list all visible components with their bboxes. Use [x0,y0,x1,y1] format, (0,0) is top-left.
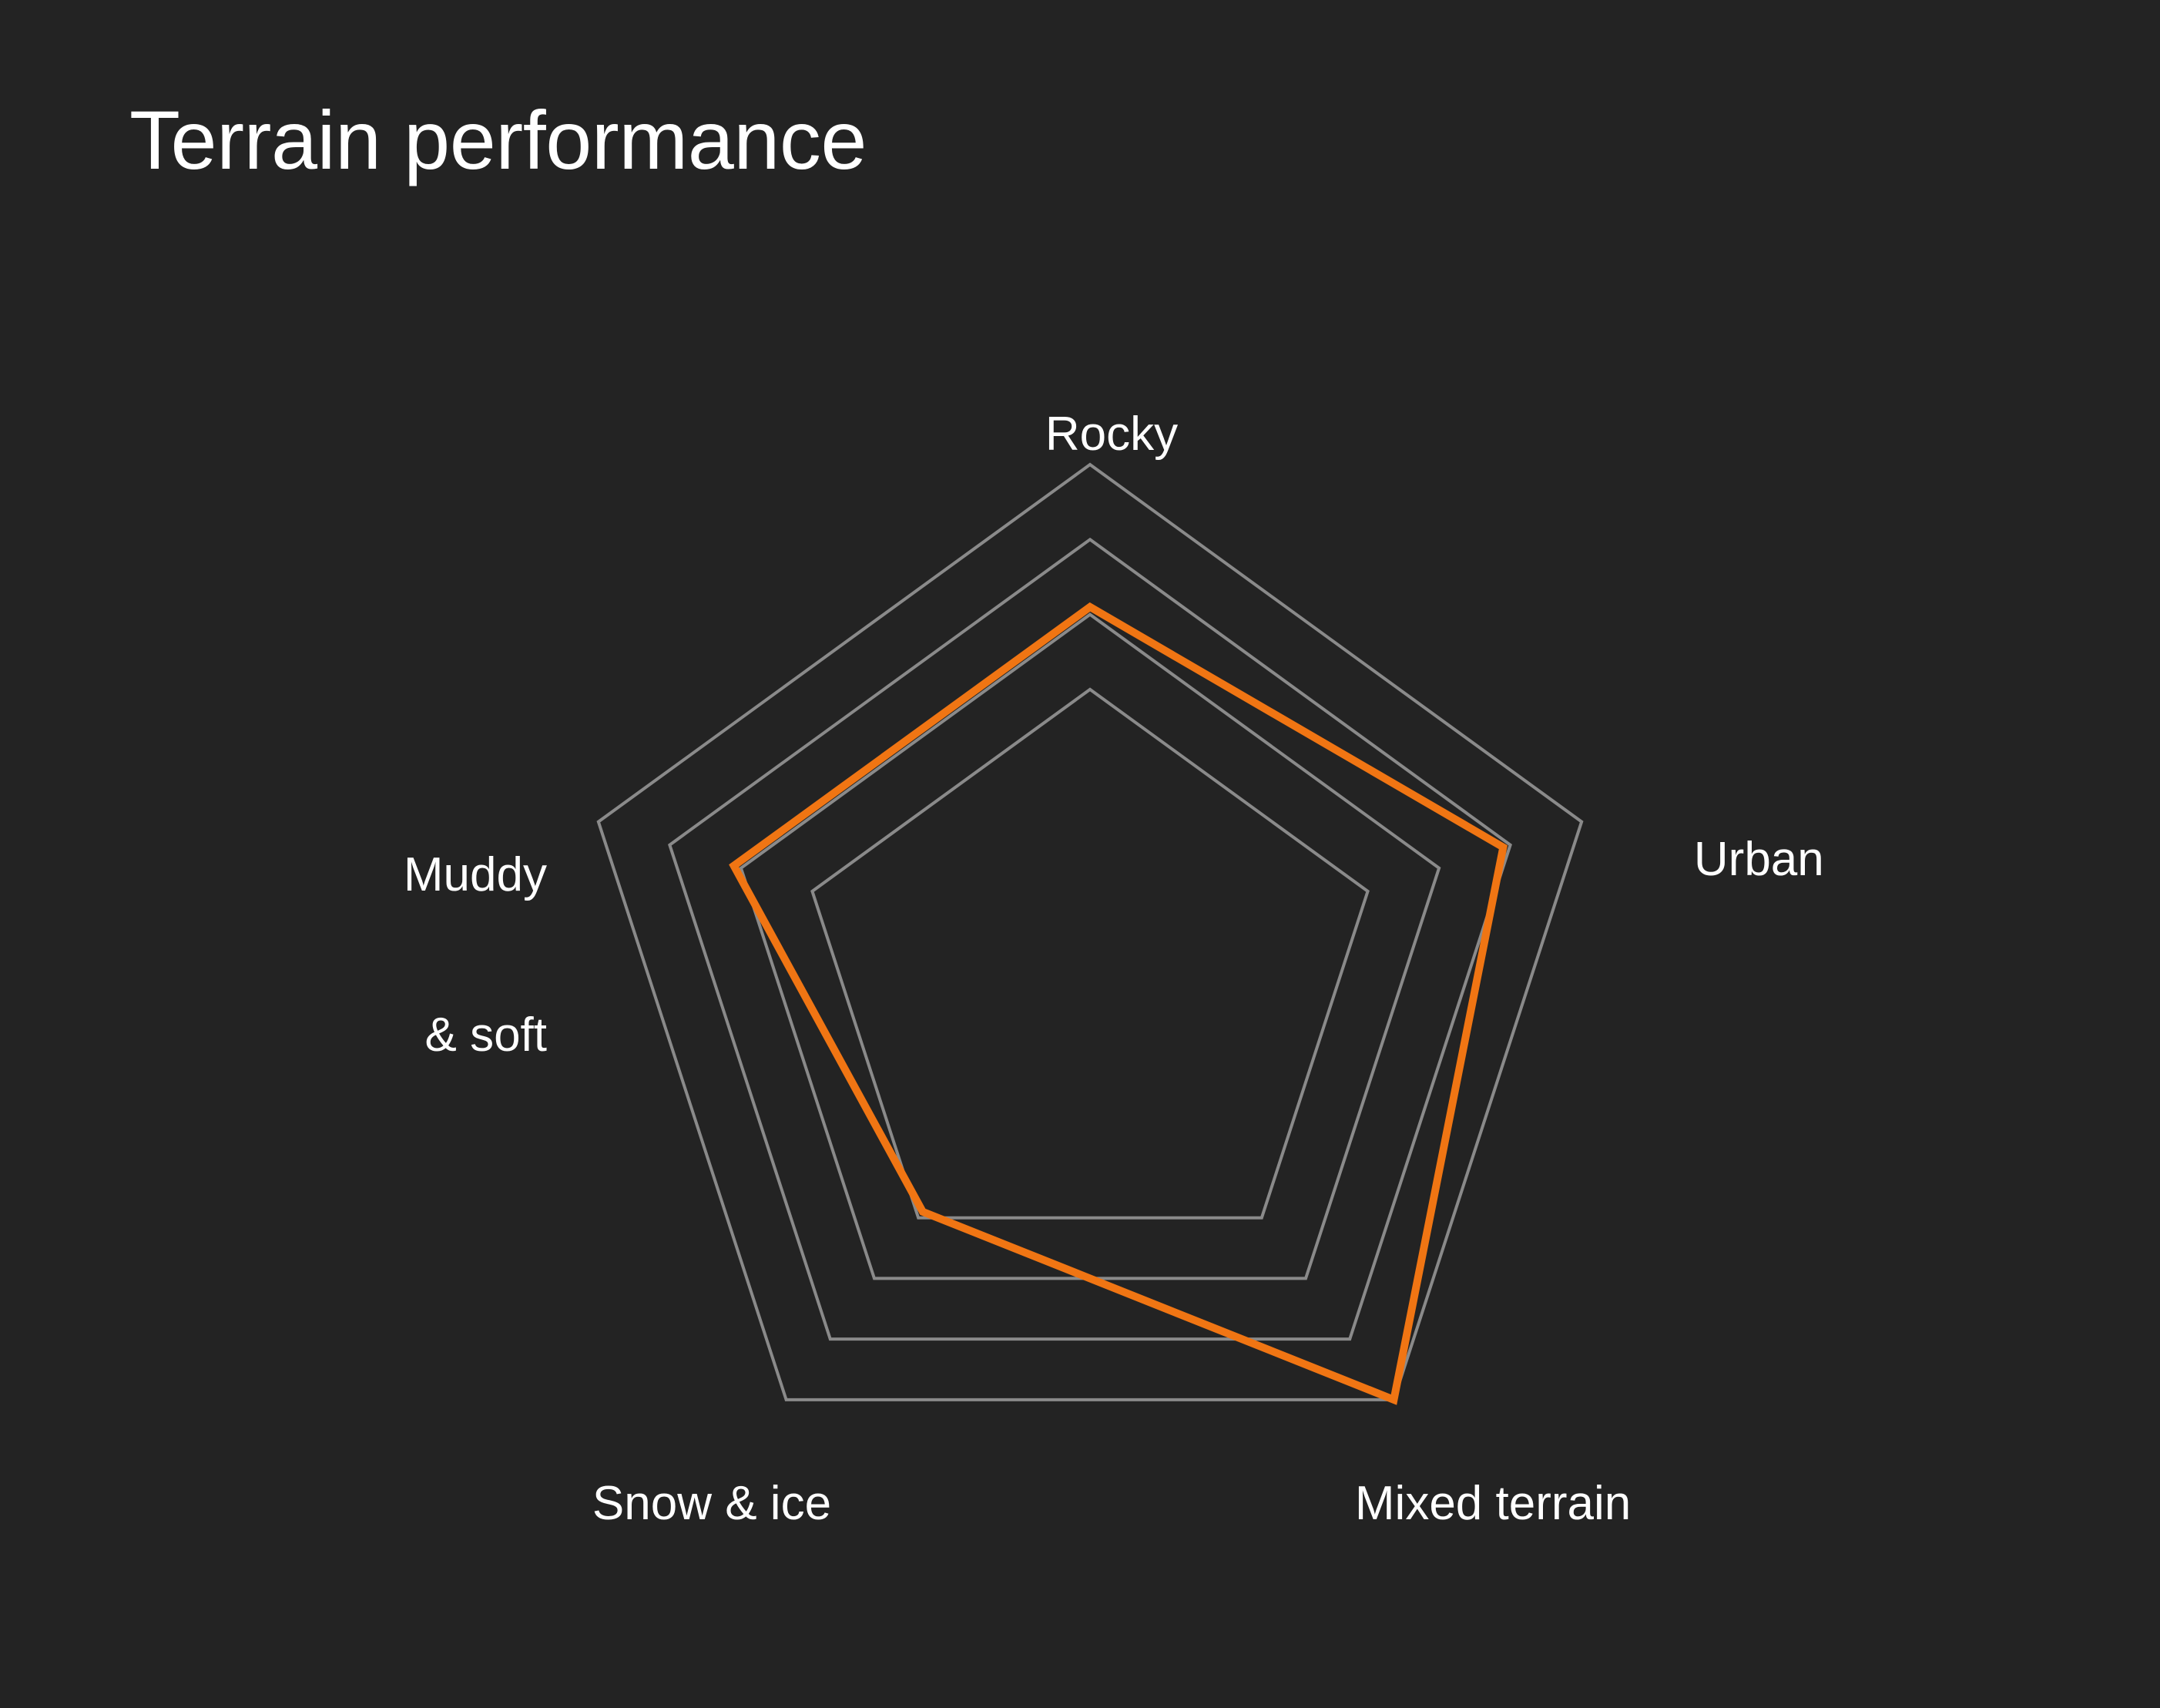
axis-label-muddy-soft: Muddy & soft [339,741,547,1169]
axis-label-mixed-terrain: Mixed terrain [1302,1424,1631,1584]
axis-label-urban: Urban [1641,780,1824,940]
axis-label-mixed-terrain-text: Mixed terrain [1355,1477,1631,1530]
axis-label-muddy-soft-line1: Muddy [339,848,547,901]
radar-chart-figure: Terrain performance Rocky Urban Mixed te… [0,0,2160,1708]
axis-label-rocky: Rocky [992,354,1178,515]
grid-ring-60 [812,690,1367,1218]
axis-label-snow-ice: Snow & ice [539,1424,831,1584]
axis-label-muddy-soft-line2: & soft [339,1008,547,1062]
radar-plot [0,0,2160,1708]
grid-ring-70 [741,615,1439,1279]
axis-label-rocky-text: Rocky [1045,408,1178,461]
axis-label-urban-text: Urban [1694,833,1824,886]
axis-label-snow-ice-text: Snow & ice [592,1477,831,1530]
